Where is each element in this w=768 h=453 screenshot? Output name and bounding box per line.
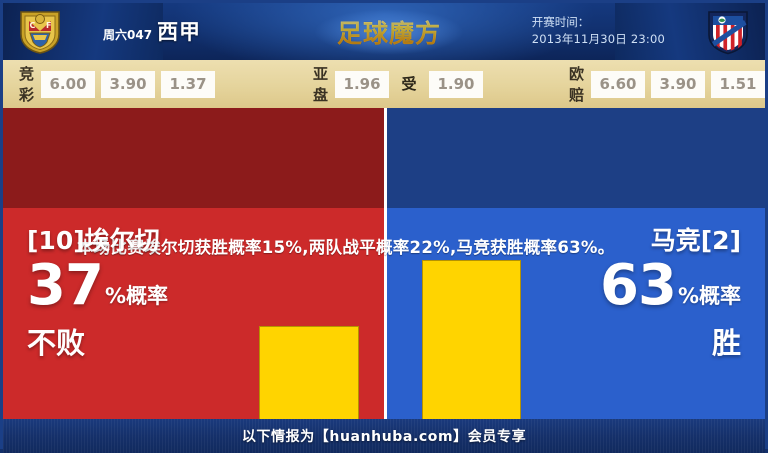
match-prediction-card: C F 周六047 西甲 足球魔方 开赛时间： 2013年11月30日 23:0… <box>0 0 768 449</box>
away-probability-value: 63 <box>600 258 676 314</box>
odds-group-title: 欧赔 <box>569 63 585 105</box>
odds-group-title: 竞彩 <box>19 63 35 105</box>
brand-text: 足球魔方 <box>337 14 441 50</box>
kickoff-info: 开赛时间： 2013年11月30日 23:00 <box>532 14 665 48</box>
odds-cell-away[interactable]: 1.37 <box>161 71 215 98</box>
away-team-block: 马竞[2] 63 %概率 胜 <box>600 226 741 362</box>
match-round: 周六047 <box>103 26 152 43</box>
svg-text:C: C <box>30 21 36 30</box>
home-probability-unit: %概率 <box>105 286 168 314</box>
card-footer: 以下情报为【huanhuba.com】会员专享 <box>3 419 765 453</box>
odds-bar: 竞彩 6.00 3.90 1.37 亚盘 1.96 受一球 1.90 欧赔 6.… <box>3 60 765 108</box>
away-probability-unit: %概率 <box>678 286 741 314</box>
match-label: 周六047 西甲 <box>103 16 201 46</box>
odds-group-title: 亚盘 <box>313 63 329 105</box>
odds-cell-away[interactable]: 1.51 <box>711 71 765 98</box>
odds-cell-away[interactable]: 1.90 <box>429 71 483 98</box>
probability-panel: 本场比赛埃尔切获胜概率15%,两队战平概率22%,马竞获胜概率63%。 [10]… <box>3 108 765 419</box>
odds-group-jingcai: 竞彩 6.00 3.90 1.37 <box>19 63 215 105</box>
home-verdict: 不败 <box>27 320 168 362</box>
away-probability-bar <box>422 260 521 419</box>
home-probability-value: 37 <box>27 258 103 314</box>
footer-text: 以下情报为【huanhuba.com】会员专享 <box>242 426 526 446</box>
home-probability-bar <box>259 326 359 419</box>
brand-logo[interactable]: 足球魔方 <box>325 11 453 53</box>
card-header: C F 周六047 西甲 足球魔方 开赛时间： 2013年11月30日 23:0… <box>3 3 765 60</box>
odds-cell-home[interactable]: 1.96 <box>335 71 389 98</box>
odds-cell-home[interactable]: 6.60 <box>591 71 645 98</box>
away-probability-line: 63 %概率 <box>600 258 741 314</box>
kickoff-value: 2013年11月30日 23:00 <box>532 31 665 48</box>
kickoff-label: 开赛时间： <box>532 14 665 31</box>
home-probability-line: 37 %概率 <box>27 258 168 314</box>
svg-text:F: F <box>46 21 51 30</box>
home-team-block: [10]埃尔切 37 %概率 不败 <box>27 226 168 362</box>
odds-group-yapan: 亚盘 1.96 受一球 1.90 <box>313 63 483 105</box>
league-name: 西甲 <box>157 16 201 46</box>
atletico-madrid-crest-icon <box>705 8 751 55</box>
away-band <box>384 108 765 208</box>
odds-cell-draw[interactable]: 3.90 <box>101 71 155 98</box>
odds-cell-draw[interactable]: 3.90 <box>651 71 705 98</box>
odds-cell-home[interactable]: 6.00 <box>41 71 95 98</box>
away-team-name: 马竞[2] <box>600 226 741 256</box>
odds-cell-handicap[interactable]: 受一球 <box>395 71 423 98</box>
away-verdict: 胜 <box>600 320 741 362</box>
home-band <box>3 108 384 208</box>
elche-cf-crest-icon: C F <box>17 8 63 55</box>
home-team-name: [10]埃尔切 <box>27 226 168 256</box>
odds-group-oupei: 欧赔 6.60 3.90 1.51 <box>569 63 765 105</box>
panel-divider <box>384 108 387 419</box>
